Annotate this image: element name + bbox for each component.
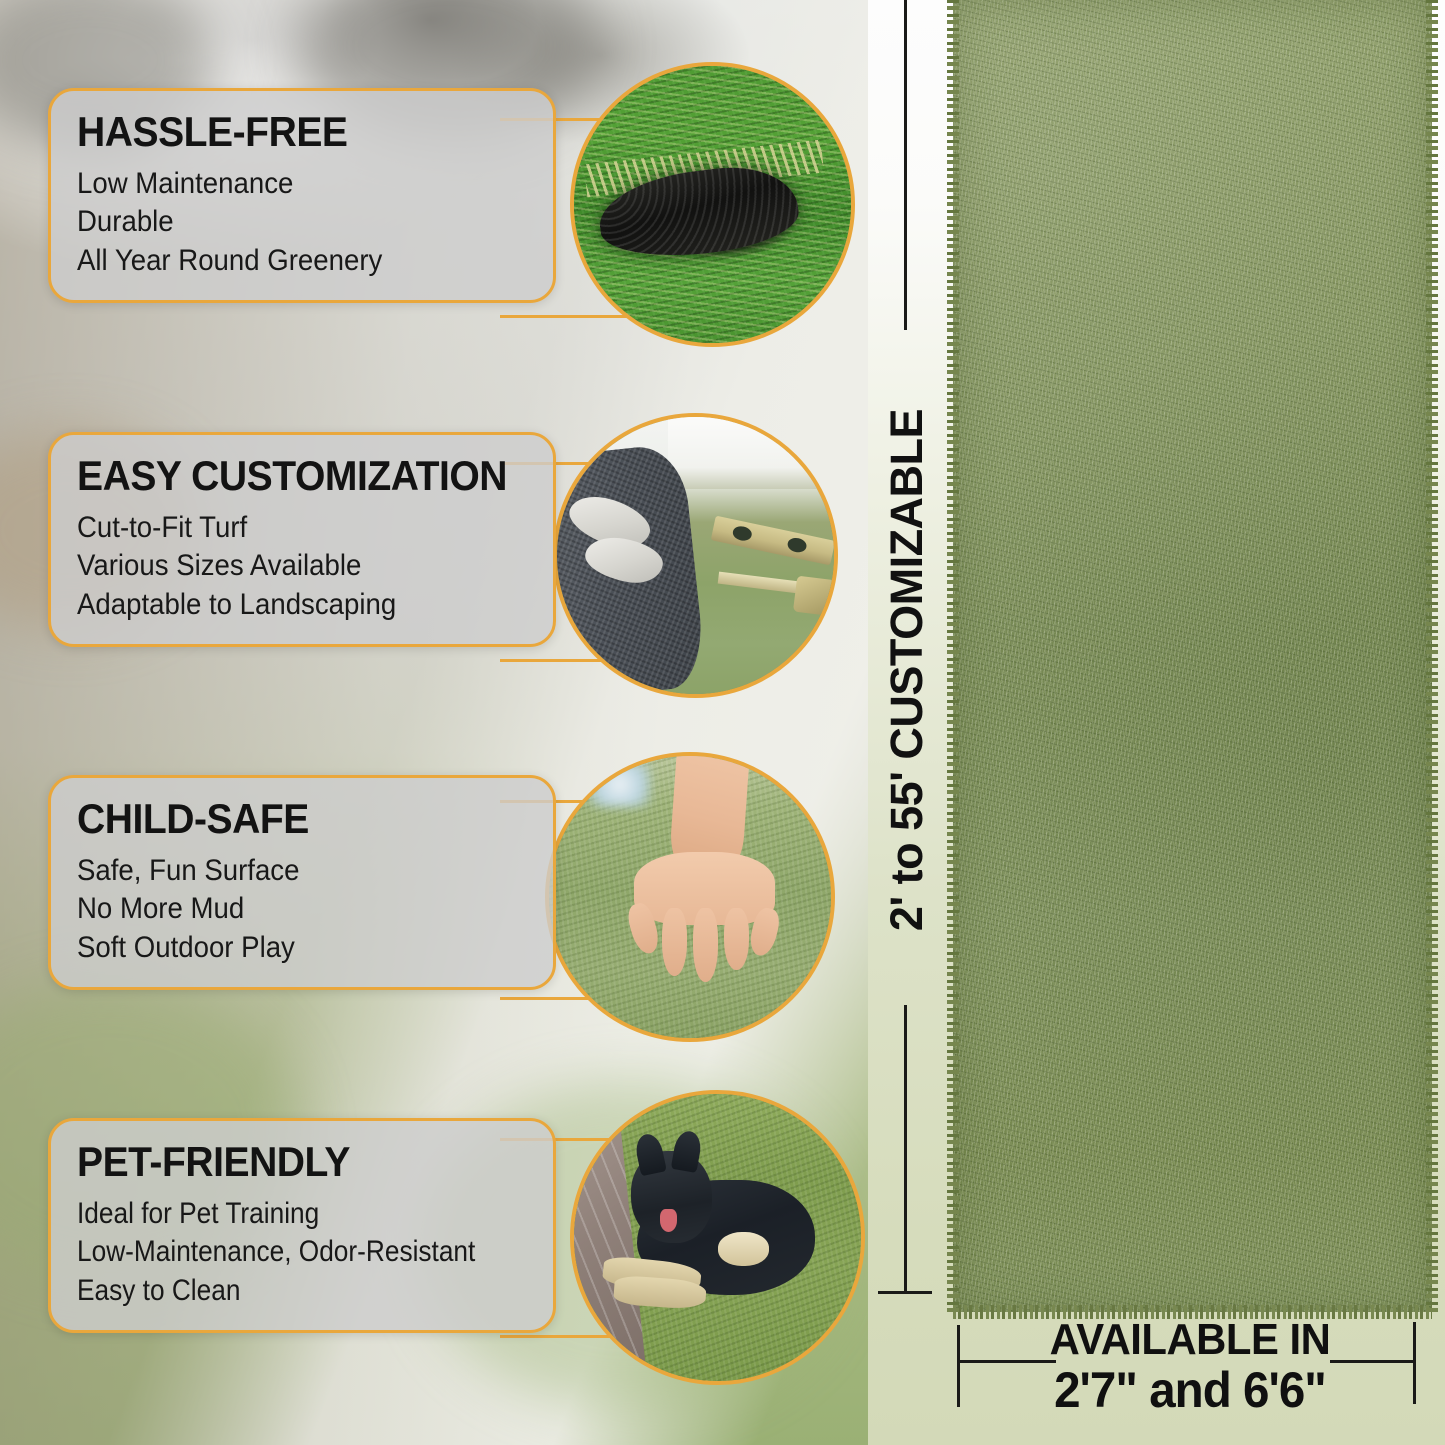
child-finger: [724, 908, 749, 970]
infographic-canvas: HASSLE-FREE Low Maintenance Durable All …: [0, 0, 1445, 1445]
feature-title: HASSLE-FREE: [77, 111, 496, 154]
feature-card-easy-customization: EASY CUSTOMIZATION Cut-to-Fit Turf Vario…: [48, 432, 556, 647]
feature-card-child-safe: CHILD-SAFE Safe, Fun Surface No More Mud…: [48, 775, 556, 990]
feature-line: Safe, Fun Surface: [77, 853, 491, 888]
available-sizes-text: 2'7" and 6'6": [972, 1364, 1409, 1417]
feature-line: Adaptable to Landscaping: [77, 587, 491, 622]
feature-line: Various Sizes Available: [77, 548, 491, 583]
child-hand-on-turf-photo: [549, 756, 831, 1038]
feature-title: EASY CUSTOMIZATION: [77, 455, 496, 498]
feature-photo-1: [570, 62, 855, 347]
child-finger: [662, 908, 687, 976]
length-guide-end-cap: [878, 1291, 932, 1294]
tape-measure-body: [793, 575, 838, 616]
paver-walkway: [570, 1091, 646, 1384]
length-guide-line-top: [904, 0, 907, 330]
feature-line: Easy to Clean: [77, 1273, 471, 1308]
spirit-level-tool: [711, 515, 835, 565]
feature-line: No More Mud: [77, 891, 491, 926]
artificial-turf-strip: [953, 0, 1432, 1312]
length-dimension-label: 2' to 55' CUSTOMIZABLE: [861, 340, 953, 1000]
feature-line: Low-Maintenance, Odor-Resistant: [77, 1234, 471, 1269]
child-finger: [693, 908, 718, 981]
feature-card-hassle-free: HASSLE-FREE Low Maintenance Durable All …: [48, 88, 556, 303]
feature-title: PET-FRIENDLY: [77, 1141, 496, 1184]
feature-line-list: Ideal for Pet Training Low-Maintenance, …: [77, 1196, 527, 1308]
background-toy-blur: [588, 762, 650, 807]
length-guide-line-bottom: [904, 1005, 907, 1293]
feature-line: Ideal for Pet Training: [77, 1196, 471, 1231]
feature-line: Soft Outdoor Play: [77, 930, 491, 965]
dog-chest-marking: [718, 1232, 770, 1266]
feature-card-pet-friendly: PET-FRIENDLY Ideal for Pet Training Low-…: [48, 1118, 556, 1333]
turf-installation-photo: [557, 417, 834, 694]
feature-line-list: Cut-to-Fit Turf Various Sizes Available …: [77, 510, 527, 622]
turf-roll-backing-photo: [574, 66, 851, 343]
length-dimension-text: 2' to 55' CUSTOMIZABLE: [881, 409, 933, 931]
feature-line: Durable: [77, 204, 491, 239]
feature-line: All Year Round Greenery: [77, 243, 491, 278]
dog-tongue: [660, 1209, 677, 1232]
feature-title: CHILD-SAFE: [77, 798, 496, 841]
feature-line: Low Maintenance: [77, 166, 491, 201]
width-dimension-label: AVAILABLE IN 2'7" and 6'6": [960, 1318, 1420, 1417]
dog-on-turf-photo: [574, 1094, 861, 1381]
available-in-text: AVAILABLE IN: [972, 1318, 1409, 1362]
feature-line: Cut-to-Fit Turf: [77, 510, 491, 545]
wall-background: [668, 417, 834, 489]
feature-photo-2: [553, 413, 838, 698]
feature-line-list: Low Maintenance Durable All Year Round G…: [77, 166, 527, 278]
feature-photo-4: [570, 1090, 865, 1385]
feature-line-list: Safe, Fun Surface No More Mud Soft Outdo…: [77, 853, 527, 965]
feature-photo-3: [545, 752, 835, 1042]
